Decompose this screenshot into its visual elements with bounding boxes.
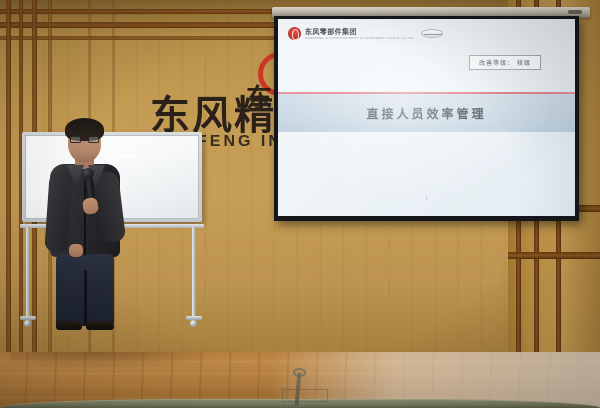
slide-level-tag: 改善等级： 核级 [469,55,541,70]
presenter [44,118,130,336]
photo-scene: 东 东风精密 DONGFENG INVE 东风零部件集团 DONGFENG AU… [0,0,600,408]
whiteboard-caster-left [24,320,31,327]
projection-screen: 东风零部件集团 DONGFENG AUTOMOTIVE PARTS & COMP… [274,16,579,221]
slide-logo-secondary-icon [421,29,443,38]
whiteboard-caster-right [190,320,197,327]
slide-title: 直接人员效率管理 [366,105,486,122]
glasses-icon [70,136,99,143]
slide-page-number: 1 [425,196,428,202]
slide-title-band: 直接人员效率管理 [278,94,575,132]
slide-logo-company-cn: 东风零部件集团 [305,28,414,36]
slide-logo-company-sub: DONGFENG AUTOMOTIVE PARTS & COMPONENTS G… [305,36,414,40]
wall-stripe-1 [6,0,11,352]
whiteboard-leg-left [26,227,30,319]
presenter-leg-split [84,270,87,326]
floor-hatch-panel [282,389,328,402]
screen-roller-knob [568,10,582,14]
presenter-shoe-left [56,321,82,330]
slide-logo: 东风零部件集团 DONGFENG AUTOMOTIVE PARTS & COMP… [288,27,443,40]
presenter-shoe-right [86,321,114,330]
company-logo-icon [288,27,301,40]
wall-right-crossbar-2 [508,252,600,259]
presenter-hand-lower [69,244,83,257]
whiteboard-leg-right [192,227,196,319]
whiteboard-floor-shadow [10,352,220,370]
presentation-slide: 东风零部件集团 DONGFENG AUTOMOTIVE PARTS & COMP… [278,19,575,216]
